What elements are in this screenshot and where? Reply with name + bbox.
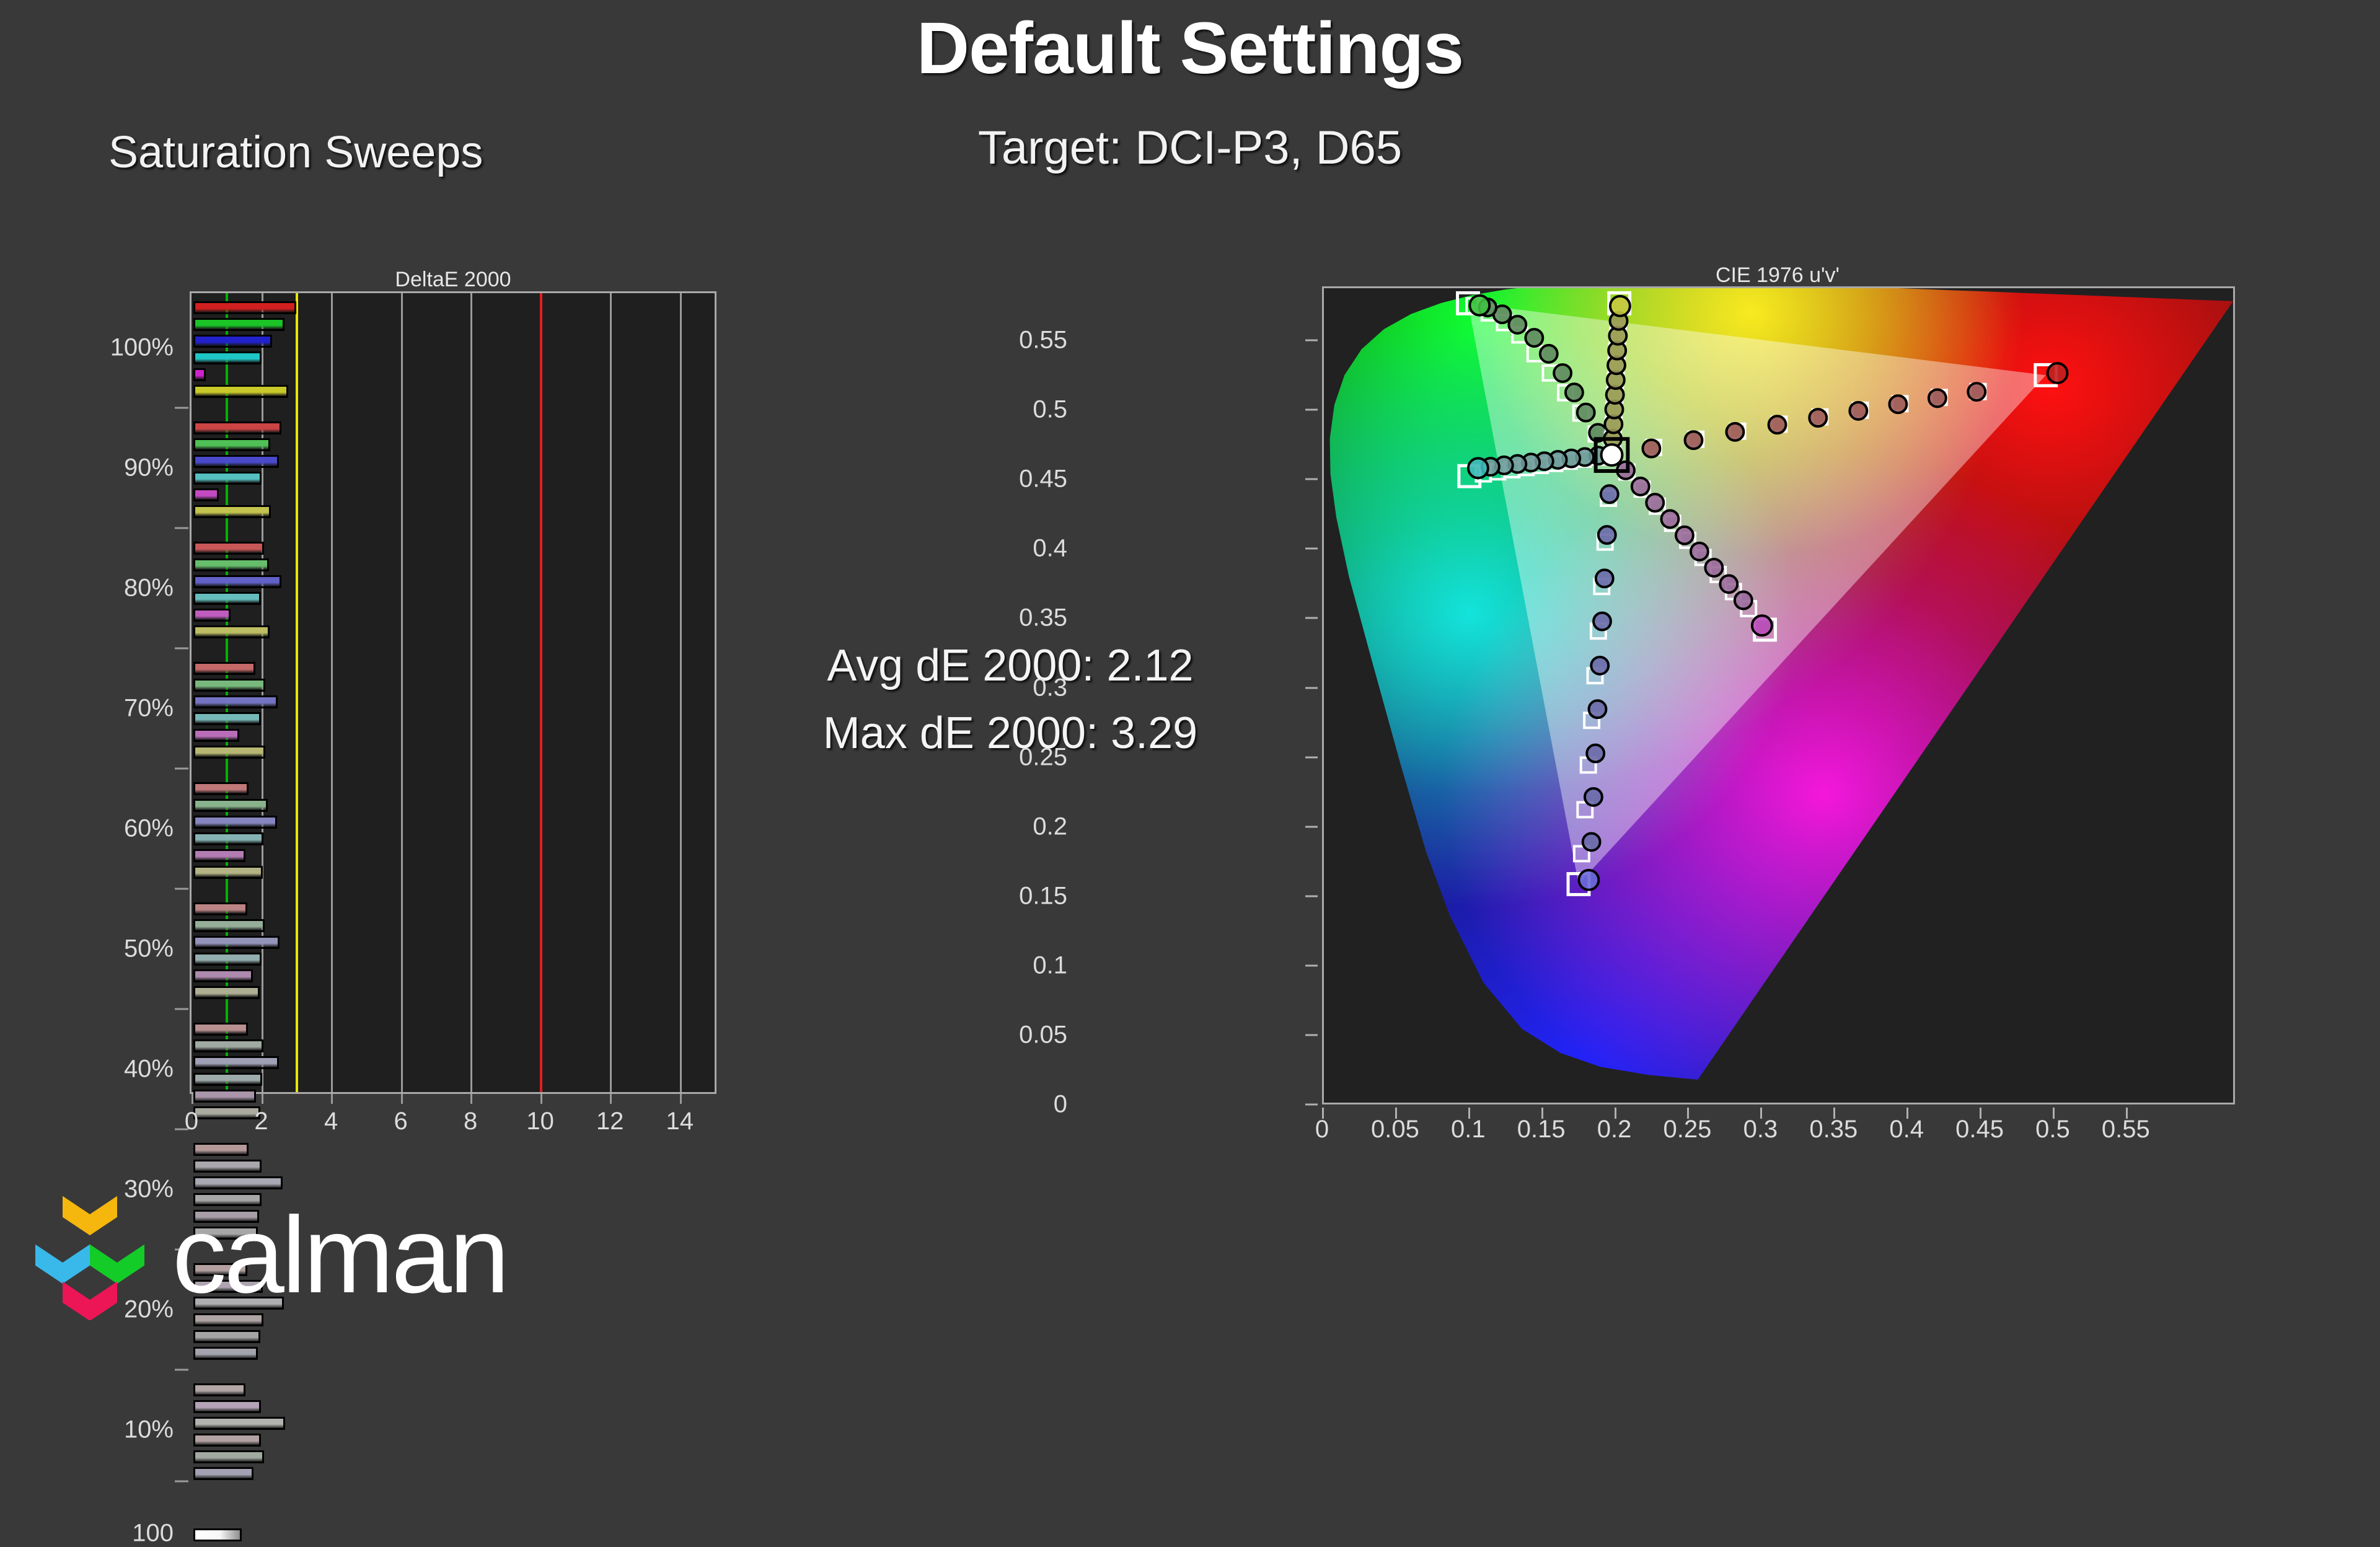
bar-green-60 [193,799,268,812]
bar-green-90 [193,438,270,451]
measurement-point [1596,570,1613,587]
cie-y-tick [1305,756,1318,758]
bar-blue-50 [193,936,280,949]
bar-y-tick [175,1481,188,1483]
cie-x-label: 0.15 [1517,1116,1566,1144]
cie-x-label: 0.35 [1809,1116,1858,1144]
bar-magenta-70 [193,729,239,742]
bar-yellow-40 [193,1106,260,1119]
measurement-point [1540,345,1558,363]
bar-x-label: 10 [526,1108,554,1135]
cie-y-label: 0.35 [1019,604,1067,632]
bar-magenta-40 [193,1090,256,1103]
measurement-point [1691,543,1708,560]
measurement-point [1577,404,1595,421]
measurement-point [1968,383,1985,400]
bar-cyan-50 [193,953,262,966]
measurement-point [1593,613,1611,630]
measurement-point [1525,329,1543,346]
cie-y-label: 0.55 [1019,327,1067,355]
bar-red-40 [193,1023,248,1036]
bar-green-40 [193,1039,263,1052]
cie-x-tick [1541,1108,1543,1119]
measurement-point [1705,559,1722,576]
bar-yellow-100 [193,385,288,398]
cie-diagram-svg [1324,288,2233,1103]
cie-chart-title: CIE 1976 u'v' [1322,263,2233,288]
cie-x-label: 0.4 [1889,1116,1924,1144]
cie-x-label: 0.5 [2035,1116,2070,1144]
bar-y-label: 80% [124,575,174,602]
bar-y-label: 50% [124,935,174,963]
bar-yellow-20 [193,1347,258,1360]
bar-y-label: 60% [124,815,174,843]
measurement-point [1646,494,1664,511]
cie-x-tick [1615,1108,1616,1119]
cie-y-tick [1305,409,1318,411]
bar-y-tick [175,527,188,529]
bar-magenta-80 [193,609,231,622]
measurement-point [2048,363,2068,383]
bar-y-tick [175,407,188,409]
bar-cyan-60 [193,832,263,845]
bar-green-70 [193,679,265,692]
cie-x-label: 0.05 [1371,1116,1419,1144]
bar-y-label: 10% [124,1416,174,1444]
cie-x-tick [1468,1108,1470,1119]
bar-blue-10 [193,1417,285,1430]
cie-x-tick [2053,1108,2055,1119]
measurement-point [1676,527,1693,544]
measurement-point [1610,296,1630,316]
bar-magenta-20 [193,1330,260,1343]
cie-y-label: 0.3 [1033,674,1067,702]
measurement-point [1632,478,1649,495]
bar-red-100 [193,301,296,314]
cie-y-tick [1305,548,1318,550]
measurement-point [1735,592,1752,609]
measurement-point [1579,870,1598,890]
cie-y-tick [1305,1034,1318,1036]
bar-red-70 [193,662,255,675]
cie-y-label: 0.25 [1019,743,1067,771]
measurement-point [1598,526,1616,544]
measurement-point [1661,510,1678,527]
calman-wordmark: calman [172,1193,507,1318]
bar-y-tick [175,768,188,770]
cie-y-tick [1305,617,1318,619]
bar-x-tick [540,1094,542,1104]
bar-cyan-80 [193,592,261,605]
bar-red-60 [193,782,249,795]
logo-chevron-amber [63,1196,117,1235]
white-point-measurement [1602,444,1623,465]
bar-x-label: 4 [324,1108,338,1135]
bar-red-50 [193,902,247,915]
bar-y-tick [175,888,188,890]
measurement-point [1583,833,1600,850]
bar-blue-100 [193,335,272,348]
bar-yellow-80 [193,625,270,638]
bar-magenta-60 [193,849,245,862]
bar-y-label: 100% [110,334,174,362]
bar-y-tick [175,1008,188,1010]
cie-x-tick [1322,1108,1324,1119]
cie-chromaticity-chart[interactable] [1322,286,2235,1104]
logo-chevron-blue [35,1245,90,1284]
bar-blue-30 [193,1176,283,1189]
deltae-bar-chart[interactable] [190,291,716,1094]
cie-x-tick [1760,1108,1762,1119]
bar-gridline [470,293,472,1092]
bar-x-label: 14 [666,1108,694,1135]
bar-y-tick [175,648,188,650]
bar-x-tick [331,1094,333,1104]
bar-green-10 [193,1400,261,1413]
bar-cyan-10 [193,1434,261,1447]
measurement-point [1585,788,1602,806]
bar-blue-70 [193,695,278,708]
bar-magenta-100 [193,368,206,381]
cie-x-tick [1687,1108,1689,1119]
cie-y-tick [1305,1104,1318,1106]
cie-x-tick [1906,1108,1908,1119]
cie-x-label: 0.1 [1451,1116,1486,1144]
measurement-point [1587,745,1604,762]
bar-red-80 [193,542,264,555]
measurement-point [1849,402,1867,420]
bar-magenta-10 [193,1450,264,1463]
bar-yellow-70 [193,746,265,759]
cie-x-label: 0.55 [2102,1116,2150,1144]
bar-x-label: 2 [254,1108,268,1135]
measurement-point [1468,458,1488,478]
bar-magenta-50 [193,969,253,982]
measurement-point [1889,395,1906,413]
bar-yellow-50 [193,986,260,999]
cie-x-label: 0.25 [1664,1116,1712,1144]
bar-x-label: 8 [464,1108,477,1135]
measurement-point [1726,423,1743,441]
cie-y-tick [1305,964,1318,966]
bar-green-100 [193,318,284,331]
bar-gridline [262,293,263,1092]
bar-red-10 [193,1383,245,1396]
bar-cyan-100 [193,351,262,364]
delta-e-stats: Avg dE 2000: 2.12 Max dE 2000: 3.29 [775,632,1246,768]
bar-gridline [610,293,612,1092]
cie-y-label: 0.45 [1019,465,1067,493]
bar-y-label: 70% [124,695,174,723]
measurement-point [1642,440,1660,457]
threshold-line-red-threshold [540,293,542,1092]
bar-x-tick [192,1094,193,1104]
bar-blue-90 [193,455,279,468]
saturation-sweeps-title: Saturation Sweeps [108,127,483,178]
avg-de-2000-value: Avg dE 2000: 2.12 [775,632,1246,700]
max-de-2000-value: Max dE 2000: 3.29 [775,700,1246,767]
cie-y-label: 0.2 [1033,813,1067,840]
cie-y-label: 0.05 [1019,1021,1067,1049]
measurement-point [1554,364,1571,382]
bar-red-100 [193,1528,242,1541]
cie-y-label: 0.5 [1033,396,1067,424]
cie-y-tick [1305,895,1318,897]
bar-x-tick [470,1094,472,1104]
cie-y-tick [1305,478,1318,480]
bar-cyan-40 [193,1073,262,1086]
bar-yellow-90 [193,505,271,518]
measurement-point [1589,700,1606,718]
cie-x-tick [2126,1108,2128,1119]
measurement-point [1566,384,1583,401]
threshold-line-yellow-threshold [296,293,298,1092]
bar-yellow-60 [193,866,263,879]
bar-x-tick [680,1094,682,1104]
measurement-point [1470,296,1489,315]
bar-green-80 [193,558,269,571]
bar-y-tick [175,1369,188,1371]
cie-x-label: 0.3 [1743,1116,1778,1144]
cie-x-tick [1395,1108,1397,1119]
deltae-chart-title: DeltaE 2000 [190,268,716,292]
bar-x-label: 0 [185,1108,198,1135]
measurement-point [1752,615,1772,635]
bar-red-90 [193,421,281,434]
cie-y-tick [1305,687,1318,689]
bar-green-50 [193,919,265,932]
cie-x-label: 0.45 [1955,1116,2004,1144]
page-title: Default Settings [0,6,2380,90]
bar-x-label: 6 [394,1108,407,1135]
measurement-point [1809,409,1827,426]
cie-y-tick [1305,826,1318,827]
measurement-point [1769,416,1786,433]
cie-y-label: 0.4 [1033,535,1067,563]
measurement-point [1509,316,1526,333]
bar-blue-80 [193,575,281,588]
measurement-point [1720,575,1737,593]
bar-x-tick [401,1094,403,1104]
cie-y-tick [1305,340,1318,342]
bar-gridline [680,293,682,1092]
cie-x-tick [1833,1108,1835,1119]
bar-gridline [331,293,333,1092]
cie-x-tick [1980,1108,1981,1119]
bar-y-label: 90% [124,454,174,482]
measurement-point [1601,485,1618,503]
bar-x-tick [610,1094,612,1104]
measurement-point [1591,657,1608,674]
cie-x-label: 0 [1315,1116,1329,1144]
cie-y-label: 0.1 [1033,951,1067,979]
measurement-point [1929,389,1946,407]
bar-magenta-90 [193,488,219,501]
logo-chevron-pink [63,1282,117,1320]
logo-chevron-green [90,1245,144,1284]
bar-y-label: 100 [132,1519,174,1547]
bar-yellow-10 [193,1467,253,1480]
cie-x-label: 0.2 [1597,1116,1632,1144]
bar-x-tick [262,1094,263,1104]
measurement-point [1685,431,1703,449]
bar-gridline [401,293,403,1092]
bar-x-label: 12 [596,1108,624,1135]
bar-y-label: 40% [124,1056,174,1083]
bar-blue-40 [193,1056,279,1069]
bar-cyan-70 [193,712,261,725]
bar-green-30 [193,1160,262,1173]
cie-y-label: 0.15 [1019,882,1067,910]
bar-red-30 [193,1143,249,1156]
bar-blue-60 [193,816,277,829]
bar-cyan-90 [193,472,262,485]
cie-y-label: 0 [1054,1091,1067,1119]
